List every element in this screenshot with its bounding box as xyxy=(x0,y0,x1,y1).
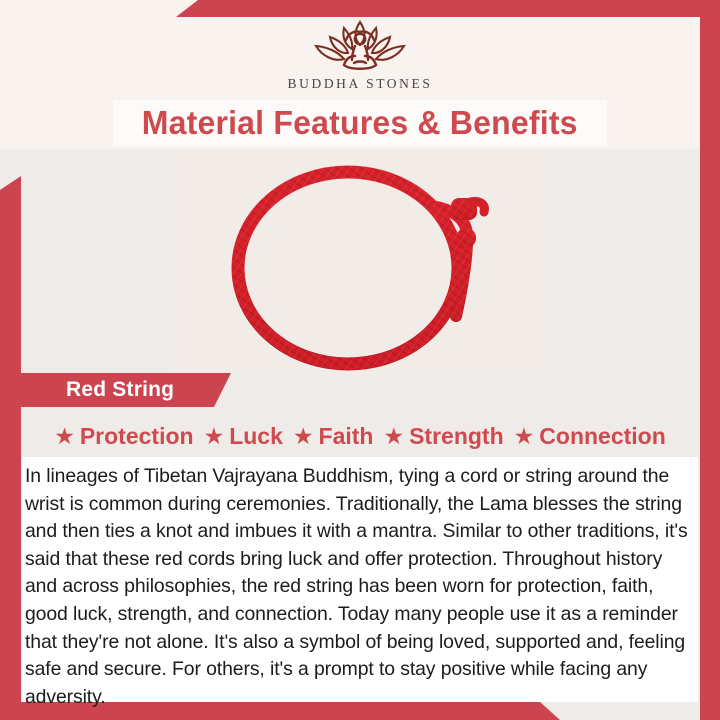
brand-logo: BUDDHA STONES xyxy=(0,18,720,92)
page-title-banner: Material Features & Benefits xyxy=(113,100,607,146)
product-image xyxy=(170,150,550,375)
infographic-page: BUDDHA STONES Material Features & Benefi… xyxy=(0,0,720,720)
product-label: Red String xyxy=(66,378,174,402)
benefit-item-luck: ★ Luck xyxy=(204,423,283,450)
star-icon: ★ xyxy=(383,425,404,448)
benefit-item-connection: ★ Connection xyxy=(514,423,666,450)
star-icon: ★ xyxy=(54,425,75,448)
benefit-item-strength: ★ Strength xyxy=(383,423,503,450)
lotus-meditation-icon xyxy=(300,18,420,74)
product-label-banner: Red String xyxy=(21,373,231,407)
decorative-bar-right xyxy=(700,0,720,720)
benefit-label: Connection xyxy=(539,423,666,450)
benefit-label: Strength xyxy=(409,423,504,450)
brand-name: BUDDHA STONES xyxy=(0,76,720,92)
decorative-bar-left xyxy=(0,176,21,720)
description-text: In lineages of Tibetan Vajrayana Buddhis… xyxy=(25,463,688,711)
benefit-item-protection: ★ Protection xyxy=(54,423,193,450)
star-icon: ★ xyxy=(204,425,225,448)
star-icon: ★ xyxy=(293,425,314,448)
benefit-label: Protection xyxy=(80,423,194,450)
benefit-label: Faith xyxy=(319,423,374,450)
benefit-item-faith: ★ Faith xyxy=(293,423,374,450)
benefit-label: Luck xyxy=(229,423,283,450)
benefits-row: ★ Protection ★ Luck ★ Faith ★ Strength ★… xyxy=(22,419,698,454)
red-string-bracelet-illustration xyxy=(170,150,550,375)
description-panel: In lineages of Tibetan Vajrayana Buddhis… xyxy=(22,457,698,702)
star-icon: ★ xyxy=(514,425,535,448)
page-title: Material Features & Benefits xyxy=(142,104,578,142)
